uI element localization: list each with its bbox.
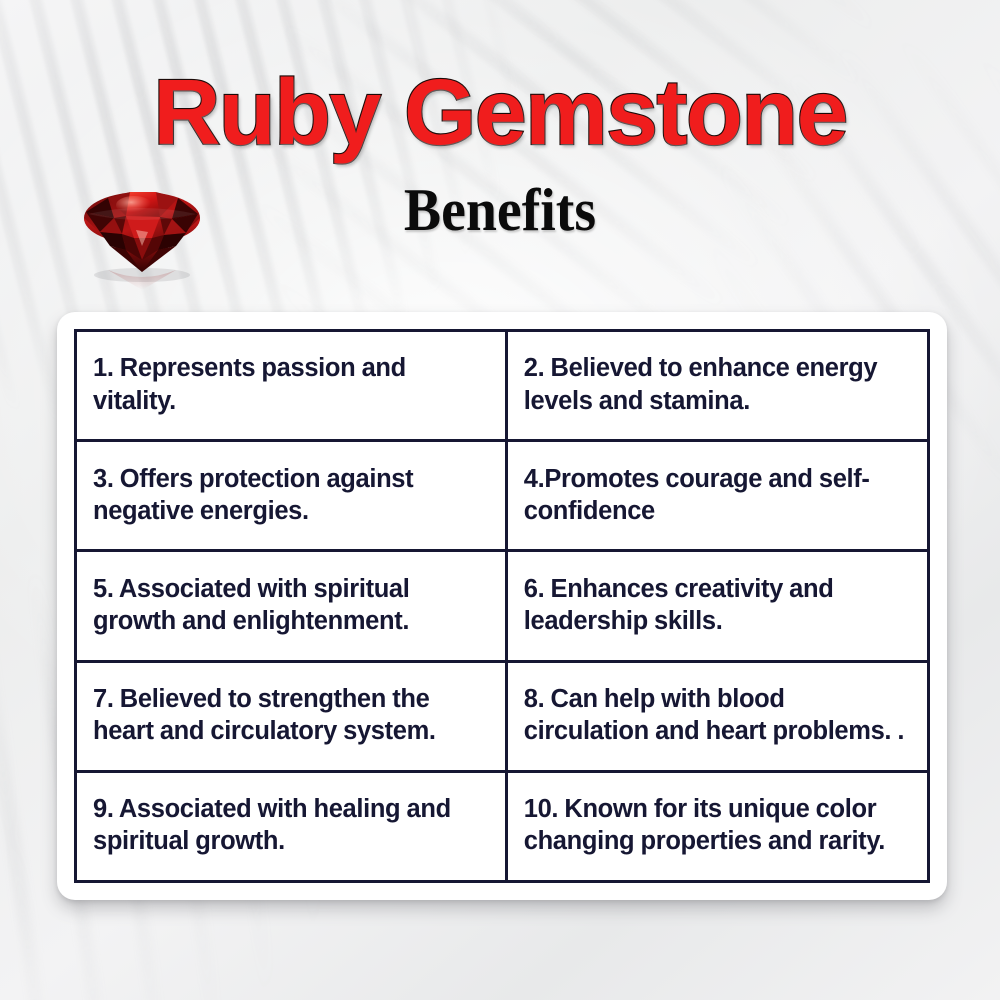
table-row: 5. Associated with spiritual growth and … (76, 551, 929, 661)
benefit-text: 10. Known for its unique color changing … (524, 793, 911, 857)
benefit-text: 2. Believed to enhance energy levels and… (524, 352, 911, 416)
table-row: 3. Offers protection against negative en… (76, 441, 929, 551)
table-row: 7. Believed to strengthen the heart and … (76, 661, 929, 771)
benefit-cell-5: 5. Associated with spiritual growth and … (76, 551, 507, 661)
benefit-cell-8: 8. Can help with blood circulation and h… (506, 661, 928, 771)
benefit-cell-7: 7. Believed to strengthen the heart and … (76, 661, 507, 771)
benefit-text: 4.Promotes courage and self-confidence (524, 463, 911, 527)
benefit-text: 5. Associated with spiritual growth and … (93, 573, 489, 637)
benefit-cell-1: 1. Represents passion and vitality. (76, 331, 507, 441)
benefit-cell-4: 4.Promotes courage and self-confidence (506, 441, 928, 551)
benefit-text: 6. Enhances creativity and leadership sk… (524, 573, 911, 637)
poster-content: Ruby Gemstone Benefits (0, 0, 1000, 1000)
benefit-text: 7. Believed to strengthen the heart and … (93, 683, 489, 747)
benefit-cell-2: 2. Believed to enhance energy levels and… (506, 331, 928, 441)
benefit-text: 8. Can help with blood circulation and h… (524, 683, 911, 747)
ruby-gemstone-icon (52, 172, 232, 307)
benefits-card: 1. Represents passion and vitality. 2. B… (57, 312, 947, 900)
table-row: 1. Represents passion and vitality. 2. B… (76, 331, 929, 441)
benefit-text: 9. Associated with healing and spiritual… (93, 793, 489, 857)
benefit-cell-3: 3. Offers protection against negative en… (76, 441, 507, 551)
page-title: Ruby Gemstone (0, 66, 1000, 159)
benefit-cell-6: 6. Enhances creativity and leadership sk… (506, 551, 928, 661)
benefit-text: 3. Offers protection against negative en… (93, 463, 489, 527)
benefit-text: 1. Represents passion and vitality. (93, 352, 489, 416)
benefit-cell-9: 9. Associated with healing and spiritual… (76, 771, 507, 881)
benefit-cell-10: 10. Known for its unique color changing … (506, 771, 928, 881)
benefits-table: 1. Represents passion and vitality. 2. B… (74, 329, 930, 883)
table-row: 9. Associated with healing and spiritual… (76, 771, 929, 881)
